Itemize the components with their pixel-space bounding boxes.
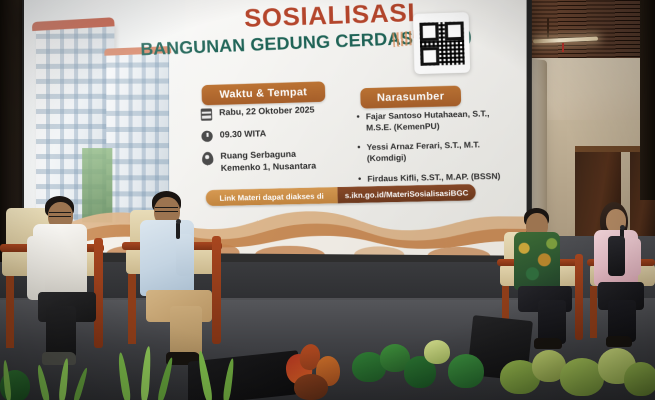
bullet-icon: • <box>357 142 362 165</box>
list-item: • Yessi Arnaz Ferari, S.T., M.T. (Komdig… <box>357 139 513 165</box>
conference-photo-scene: SOSIALISASI BANGUNAN GEDUNG CERDAS (BGC)… <box>0 0 655 400</box>
qr-code-icon <box>419 21 464 65</box>
ceiling-red-marker <box>562 43 564 52</box>
speakers-list: • Fajar Santoso Hutahaean, S.T., M.S.E. … <box>356 107 513 193</box>
light-stem <box>547 18 549 39</box>
speaker-name-1: Fajar Santoso Hutahaean, S.T., M.S.E. (K… <box>366 107 513 133</box>
speaker-name-2: Yessi Arnaz Ferari, S.T., M.T. (Komdigi) <box>366 139 513 165</box>
clock-icon <box>201 131 213 142</box>
schedule-item-location: Ruang Serbaguna Kemenko 1, Nusantara <box>202 147 347 175</box>
schedule-date-text: Rabu, 22 Oktober 2025 <box>219 104 315 119</box>
schedule-time-text: 09.30 WITA <box>220 128 267 141</box>
schedule-heading: Waktu & Tempat <box>201 81 325 105</box>
schedule-location-text: Ruang Serbaguna Kemenko 1, Nusantara <box>220 148 316 175</box>
schedule-item-date: Rabu, 22 Oktober 2025 <box>201 103 345 120</box>
speaker-name-3: Firdaus Kifli, S.ST., M.AP. (BSSN) <box>367 170 500 185</box>
right-dark-edge <box>640 0 655 200</box>
list-item: • Firdaus Kifli, S.ST., M.AP. (BSSN) <box>358 170 514 185</box>
schedule-item-time: 09.30 WITA <box>201 126 345 142</box>
calendar-icon <box>201 108 213 120</box>
bullet-icon: • <box>358 173 362 185</box>
schedule-list: Rabu, 22 Oktober 2025 09.30 WITA Ruang S… <box>201 103 347 184</box>
projection-screen: SOSIALISASI BANGUNAN GEDUNG CERDAS (BGC)… <box>24 0 527 256</box>
qr-code-card <box>413 12 470 74</box>
location-pin-icon <box>202 152 214 165</box>
microphone-icon <box>176 222 180 239</box>
bullet-icon: • <box>356 111 361 134</box>
foreground-plants <box>0 330 655 400</box>
speakers-heading: Narasumber <box>360 86 461 109</box>
list-item: • Fajar Santoso Hutahaean, S.T., M.S.E. … <box>356 107 512 134</box>
